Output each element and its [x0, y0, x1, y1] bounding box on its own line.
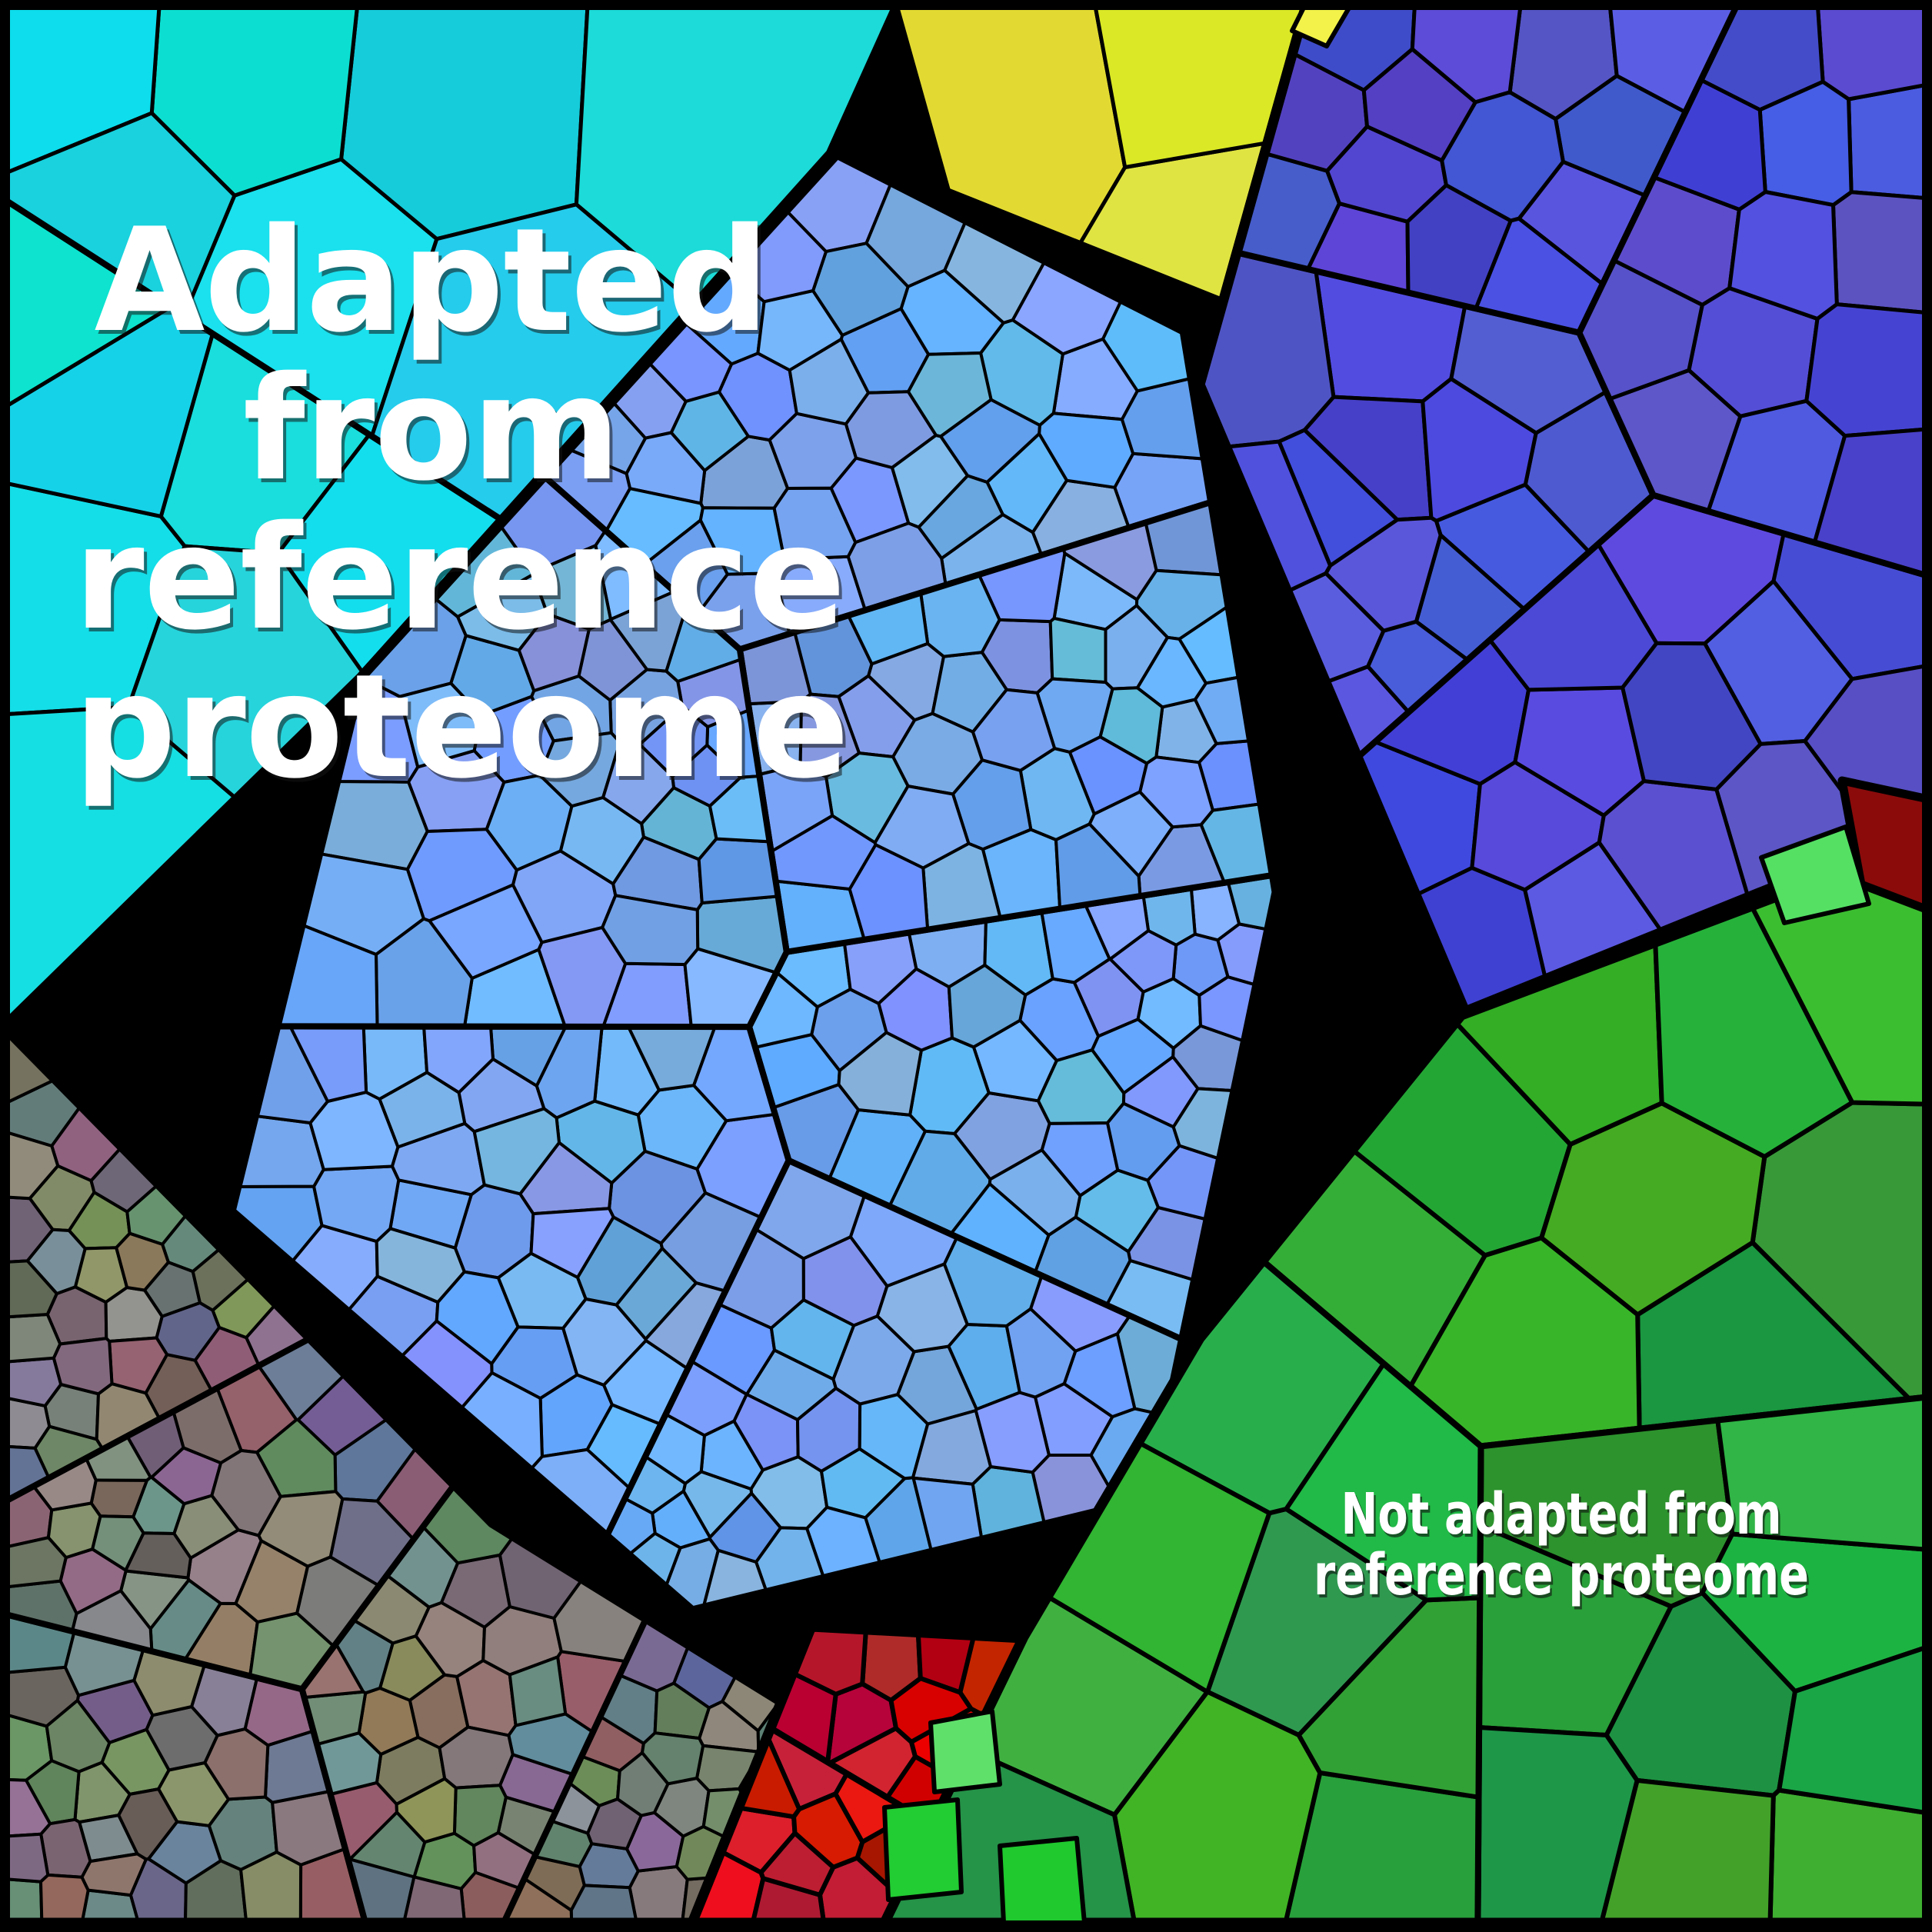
voronoi-treemap-figure: Adapted from reference proteome Not adap… [0, 0, 1932, 1932]
region-light-blue-cell [699, 839, 778, 903]
region-gray-cell [0, 1834, 48, 1882]
accent-green-light [931, 1711, 1000, 1792]
region-light-blue-cell [1051, 618, 1106, 682]
region-gray-cell [571, 1885, 637, 1923]
region-blue-violet-cell [1834, 192, 1932, 314]
region-gray-cell [0, 1358, 61, 1406]
region-gray-cell [630, 1867, 688, 1923]
treemap-canvas [0, 0, 1932, 1932]
accent-green-bright [1000, 1838, 1084, 1923]
region-gray-cell [41, 1875, 88, 1923]
region-blue-violet-cell [1817, 0, 1932, 99]
region-gray-cell [0, 1879, 42, 1923]
region-blue-violet-cell [1807, 305, 1932, 436]
region-gray-cell [0, 1537, 66, 1587]
accent-green-bright [884, 1800, 961, 1900]
region-gray-cell [0, 1314, 60, 1362]
region-blue-violet-cell [1849, 84, 1932, 198]
region-gray-cell [54, 1338, 112, 1394]
